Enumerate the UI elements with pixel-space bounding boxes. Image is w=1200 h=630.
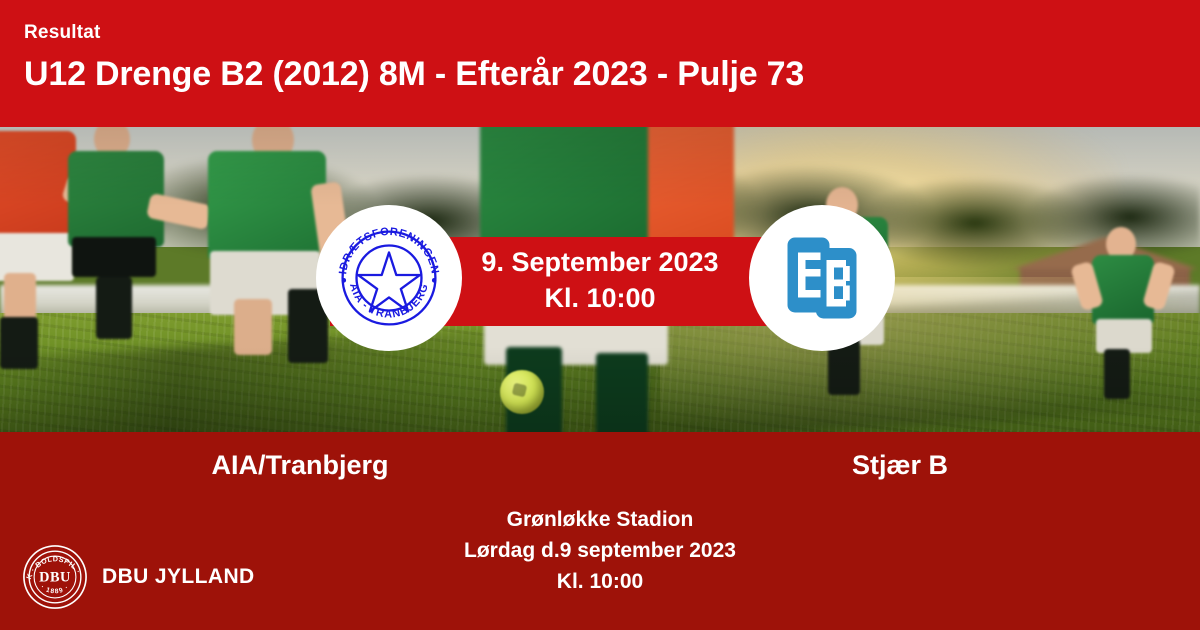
dbu-crest-icon: DANSK · BOLDSPIL · UNION · 1889 · DBU: [22, 544, 88, 610]
match-result-card: Resultat U12 Drenge B2 (2012) 8M - Efter…: [0, 0, 1200, 630]
away-club-logo[interactable]: [749, 205, 895, 351]
stjaer-b-monogram-icon: [783, 233, 861, 323]
venue-stadium: Grønløkke Stadion: [0, 504, 1200, 535]
team-names-row: AIA/Tranbjerg Stjær B: [0, 448, 1200, 482]
aia-tranbjerg-crest-icon: IDRÆTSFORENINGEN AIA - TRANBJERG: [331, 220, 447, 336]
home-team-name: AIA/Tranbjerg: [0, 448, 600, 482]
dbu-footer-logo[interactable]: DANSK · BOLDSPIL · UNION · 1889 · DBU DB…: [22, 544, 255, 610]
dbu-organization-label: DBU JYLLAND: [102, 565, 255, 589]
page-title: U12 Drenge B2 (2012) 8M - Efterår 2023 -…: [24, 52, 1200, 96]
header-kicker: Resultat: [24, 22, 1200, 44]
home-club-logo[interactable]: IDRÆTSFORENINGEN AIA - TRANBJERG: [316, 205, 462, 351]
svg-text:DBU: DBU: [39, 569, 71, 585]
match-time: Kl. 10:00: [440, 280, 760, 316]
match-datetime: 9. September 2023 Kl. 10:00: [440, 244, 760, 316]
away-team-name: Stjær B: [600, 448, 1200, 482]
svg-text:IDRÆTSFORENINGEN: IDRÆTSFORENINGEN: [337, 226, 441, 275]
match-date: 9. September 2023: [440, 244, 760, 280]
header-banner: Resultat U12 Drenge B2 (2012) 8M - Efter…: [0, 0, 1200, 127]
